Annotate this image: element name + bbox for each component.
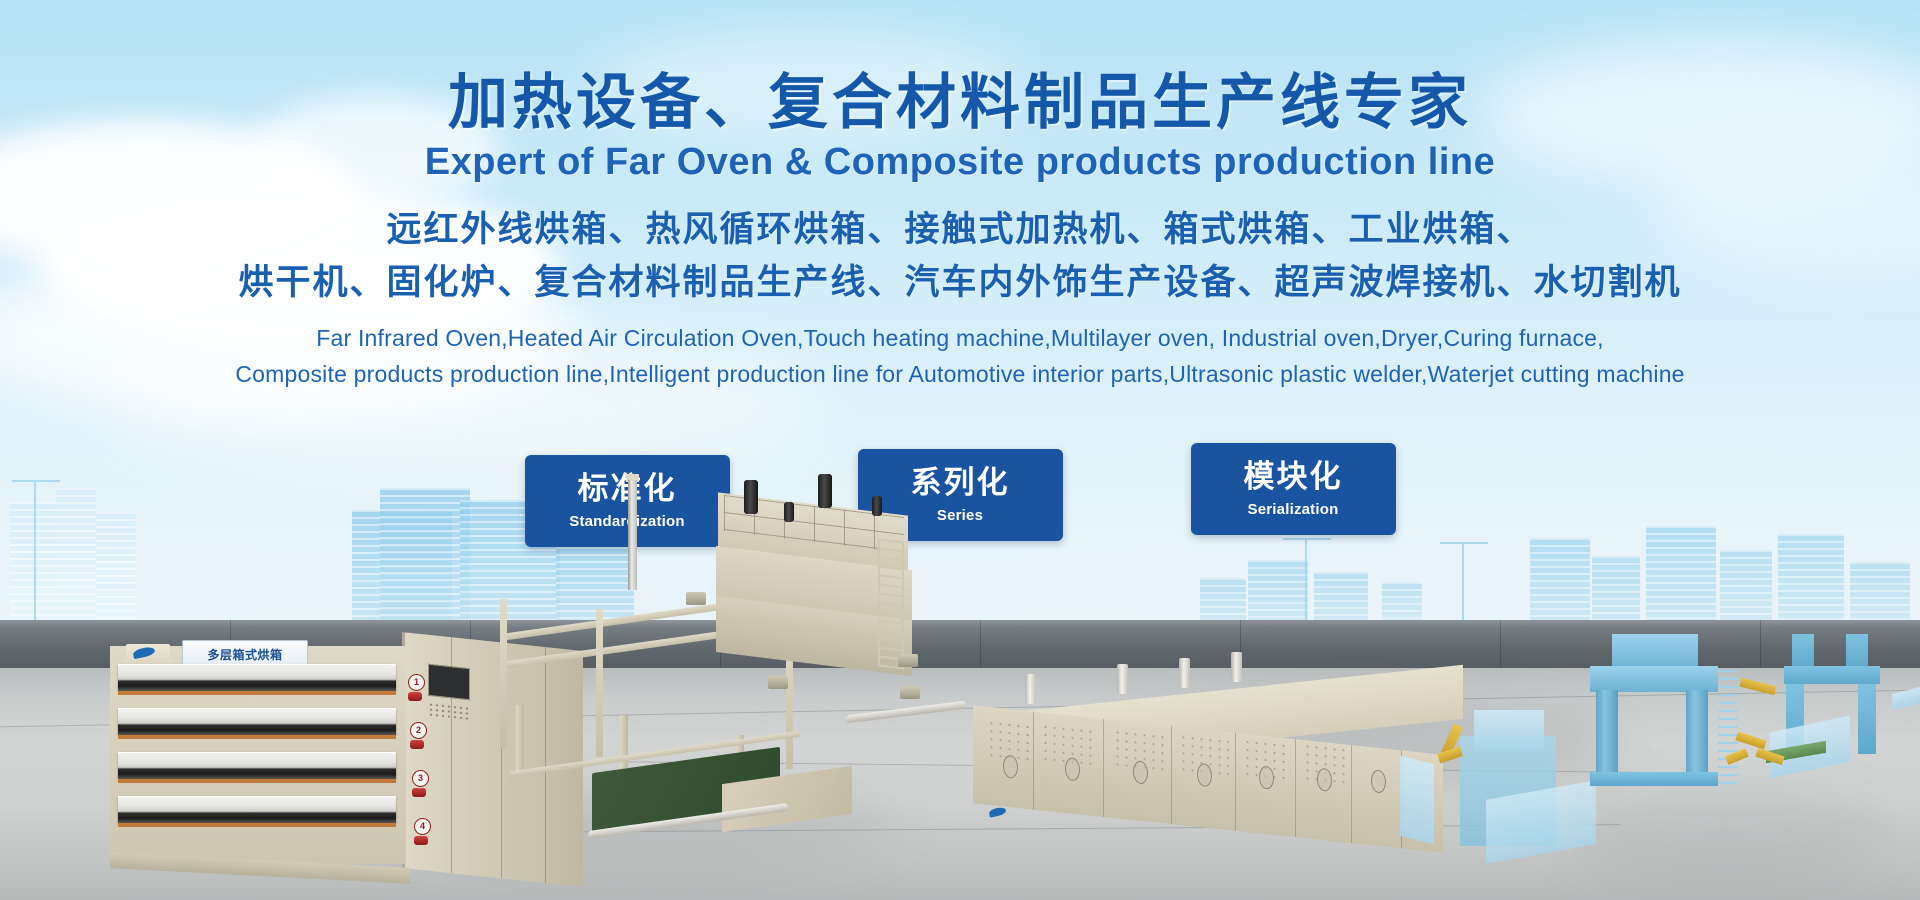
blue-platform: [1474, 710, 1544, 750]
skyline-building: [1530, 538, 1590, 630]
brand-logo-icon: [126, 644, 170, 662]
blue-frame-column: [1858, 684, 1876, 754]
drive-motor: [900, 686, 920, 699]
construction-crane: [1305, 538, 1307, 630]
feature-badges: 标准化 Standardization 系列化 Series 模块化 Seria…: [0, 455, 1920, 547]
oven-knob[interactable]: [412, 788, 426, 797]
oven-front-body: 多层箱式烘箱: [110, 646, 406, 864]
page-title-en: Expert of Far Oven & Composite products …: [0, 141, 1920, 184]
badge-label-cn: 模块化: [1244, 460, 1343, 494]
page-title-cn: 加热设备、复合材料制品生产线专家: [0, 72, 1920, 135]
robot-arm: [1735, 732, 1766, 750]
product-list-en-line-2: Composite products production line,Intel…: [0, 357, 1920, 393]
blue-frame-beam: [1784, 666, 1880, 684]
exhaust-stack: [1231, 652, 1242, 682]
exhaust-stack: [1117, 664, 1128, 694]
badge-label-en: Serialization: [1248, 501, 1339, 518]
drive-motor: [686, 592, 706, 605]
product-list-en-line-1: Far Infrared Oven,Heated Air Circulation…: [0, 321, 1920, 357]
skyline-building: [1720, 550, 1772, 630]
vertical-mast: [628, 480, 637, 590]
blue-frame-column: [1792, 634, 1814, 668]
inspection-window: [1133, 760, 1148, 785]
oven-control-screen: [428, 664, 470, 700]
oven-knob[interactable]: [414, 836, 428, 845]
drive-motor: [898, 654, 918, 667]
oven-shelf: [118, 708, 396, 735]
blue-panel: [1400, 756, 1434, 844]
hydraulic-cylinder: [872, 496, 882, 516]
inspection-window: [1197, 763, 1212, 788]
inspection-window: [1065, 757, 1080, 782]
blue-ladder: [1718, 670, 1738, 790]
promotional-banner: 加热设备、复合材料制品生产线专家 Expert of Far Oven & Co…: [0, 0, 1920, 900]
hydraulic-cylinder: [818, 474, 832, 508]
inspection-window: [1259, 765, 1274, 790]
oven-panel-number: 1: [408, 674, 425, 691]
product-list-cn-line-2: 烘干机、固化炉、复合材料制品生产线、汽车内外饰生产设备、超声波焊接机、水切割机: [0, 257, 1920, 310]
skyline-building: [1592, 556, 1640, 630]
conveyor-rail: [1739, 678, 1776, 695]
oven-panel-number: 2: [410, 722, 427, 739]
oven-panel-number: 4: [414, 818, 431, 835]
oven-knob[interactable]: [408, 692, 422, 701]
badge-label-cn: 系列化: [911, 466, 1010, 500]
oven-panel-number: 3: [412, 770, 429, 787]
maintenance-ladder: [878, 538, 904, 669]
badge-label-en: Series: [937, 507, 983, 524]
exhaust-stack: [1179, 658, 1190, 688]
product-list-cn-line-1: 远红外线烘箱、热风循环烘箱、接触式加热机、箱式烘箱、工业烘箱、: [0, 204, 1920, 257]
banner-copy: 加热设备、复合材料制品生产线专家 Expert of Far Oven & Co…: [0, 0, 1920, 392]
badge-serialization[interactable]: 模块化 Serialization: [1191, 443, 1396, 535]
oven-shelf: [118, 796, 396, 823]
composite-press-machine: [500, 480, 920, 780]
oven-shelf: [118, 664, 396, 691]
hydraulic-cylinder: [784, 502, 794, 522]
exhaust-stack: [1025, 674, 1036, 704]
skyline-building: [1778, 534, 1844, 630]
inspection-window: [1317, 767, 1332, 792]
drive-motor: [768, 676, 788, 689]
brand-logo-icon: [987, 806, 1013, 818]
construction-crane: [1462, 542, 1464, 630]
inspection-window: [1003, 754, 1018, 779]
oven-shelf: [118, 752, 396, 779]
hydraulic-cylinder: [744, 480, 758, 514]
blue-production-line: [1440, 640, 1920, 890]
blue-frame-column: [1846, 634, 1868, 668]
blue-panel: [1892, 686, 1920, 710]
oven-knob[interactable]: [410, 740, 424, 749]
inspection-window: [1371, 769, 1386, 794]
